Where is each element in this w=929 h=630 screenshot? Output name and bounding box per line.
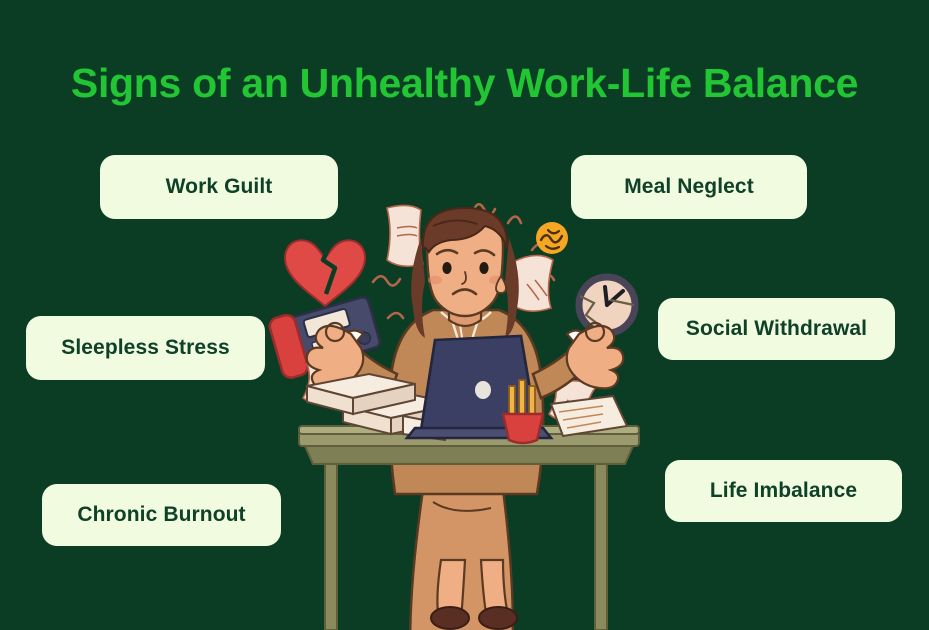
sign-pill-chronic-burnout[interactable]: Chronic Burnout <box>42 484 281 546</box>
dizzy-face-emoji-icon <box>536 222 568 254</box>
sign-label: Chronic Burnout <box>77 503 245 527</box>
sign-label: Sleepless Stress <box>61 336 230 360</box>
page-title: Signs of an Unhealthy Work-Life Balance <box>0 60 929 107</box>
infographic-poster: Signs of an Unhealthy Work-Life Balance … <box>0 0 929 630</box>
sign-pill-life-imbalance[interactable]: Life Imbalance <box>665 460 902 522</box>
sign-pill-sleepless-stress[interactable]: Sleepless Stress <box>26 316 265 380</box>
sign-pill-social-withdrawal[interactable]: Social Withdrawal <box>658 298 895 360</box>
sign-label: Social Withdrawal <box>686 317 867 341</box>
stressed-worker-illustration <box>255 190 675 630</box>
broken-heart-icon <box>285 238 365 306</box>
sign-label: Life Imbalance <box>710 479 857 503</box>
